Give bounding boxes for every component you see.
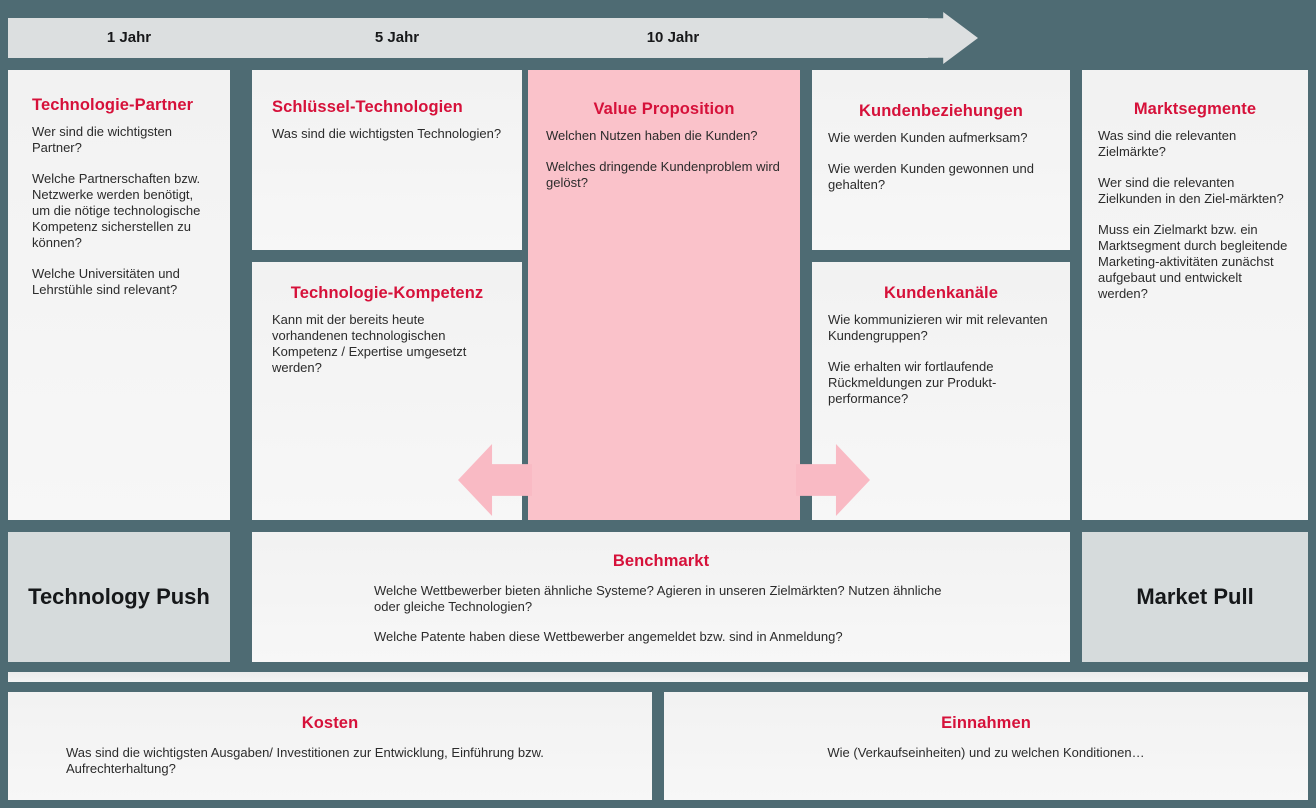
block-paragraph: Was sind die relevanten Zielmärkte?	[1098, 128, 1292, 160]
block-paragraph: Welche Universitäten und Lehrstühle sind…	[32, 266, 206, 298]
block-paragraph: Wie werden Kunden aufmerksam?	[828, 130, 1054, 146]
block-paragraph: Wer sind die relevanten Zielkunden in de…	[1098, 175, 1292, 207]
block-kosten[interactable]: Kosten Was sind die wichtigsten Ausgaben…	[8, 692, 652, 800]
block-einnahmen[interactable]: Einnahmen Wie (Verkaufseinheiten) und zu…	[664, 692, 1308, 800]
block-title: Marktsegmente	[1098, 100, 1292, 119]
block-paragraph: Wie werden Kunden gewonnen und gehalten?	[828, 161, 1054, 193]
timeline-label-5-jahr: 5 Jahr	[338, 18, 456, 58]
block-paragraph: Welchen Nutzen haben die Kunden?	[546, 128, 782, 144]
block-title: Kundenkanäle	[828, 284, 1054, 303]
block-value-proposition[interactable]: Value Proposition Welchen Nutzen haben d…	[528, 70, 800, 520]
timeline-axis: 1 Jahr 5 Jahr 10 Jahr	[8, 18, 968, 58]
timeline-label-10-jahr: 10 Jahr	[608, 18, 738, 58]
block-paragraph: Kann mit der bereits heute vorhandenen t…	[272, 312, 502, 376]
block-paragraph: Welches dringende Kundenproblem wird gel…	[546, 159, 782, 191]
block-title: Kundenbeziehungen	[828, 102, 1054, 121]
block-paragraph: Was sind die wichtigsten Technologien?	[272, 126, 502, 142]
block-paragraph: Was sind die wichtigsten Ausgaben/ Inves…	[8, 745, 652, 777]
timeline-label-1-jahr: 1 Jahr	[70, 18, 188, 58]
block-label: Technology Push	[8, 584, 230, 610]
block-benchmarkt[interactable]: Benchmarkt Welche Wettbewerber bieten äh…	[252, 532, 1070, 662]
block-label: Market Pull	[1082, 584, 1308, 610]
arrow-right-icon	[920, 12, 978, 64]
block-paragraph: Welche Partnerschaften bzw. Netzwerke we…	[32, 171, 206, 251]
block-paragraph: Wie kommunizieren wir mit relevanten Kun…	[828, 312, 1054, 344]
block-schluessel-technologien[interactable]: Schlüssel-Technologien Was sind die wich…	[252, 70, 522, 250]
block-title: Schlüssel-Technologien	[272, 98, 502, 117]
block-paragraph: Wer sind die wichtigsten Partner?	[32, 124, 206, 156]
block-marktsegmente[interactable]: Marktsegmente Was sind die relevanten Zi…	[1082, 70, 1308, 520]
block-paragraph: Muss ein Zielmarkt bzw. ein Marktsegment…	[1098, 222, 1292, 302]
business-model-canvas: 1 Jahr 5 Jahr 10 Jahr Technologie-Partne…	[0, 0, 1316, 808]
block-kundenbeziehungen[interactable]: Kundenbeziehungen Wie werden Kunden aufm…	[812, 70, 1070, 250]
block-title: Kosten	[8, 714, 652, 733]
block-technologie-partner[interactable]: Technologie-Partner Wer sind die wichtig…	[8, 70, 230, 520]
block-title: Technologie-Partner	[32, 96, 206, 115]
block-title: Einnahmen	[664, 714, 1308, 733]
block-paragraph: Welche Patente haben diese Wettbewerber …	[252, 629, 1070, 645]
block-title: Value Proposition	[546, 100, 782, 119]
block-paragraph: Wie (Verkaufseinheiten) und zu welchen K…	[664, 745, 1308, 761]
block-title: Technologie-Kompetenz	[272, 284, 502, 303]
divider-strip	[8, 672, 1308, 682]
block-market-pull[interactable]: Market Pull	[1082, 532, 1308, 662]
block-technology-push[interactable]: Technology Push	[8, 532, 230, 662]
block-paragraph: Wie erhalten wir fortlaufende Rückmeldun…	[828, 359, 1054, 407]
block-title: Benchmarkt	[252, 552, 1070, 571]
block-paragraph: Welche Wettbewerber bieten ähnliche Syst…	[252, 583, 1070, 615]
